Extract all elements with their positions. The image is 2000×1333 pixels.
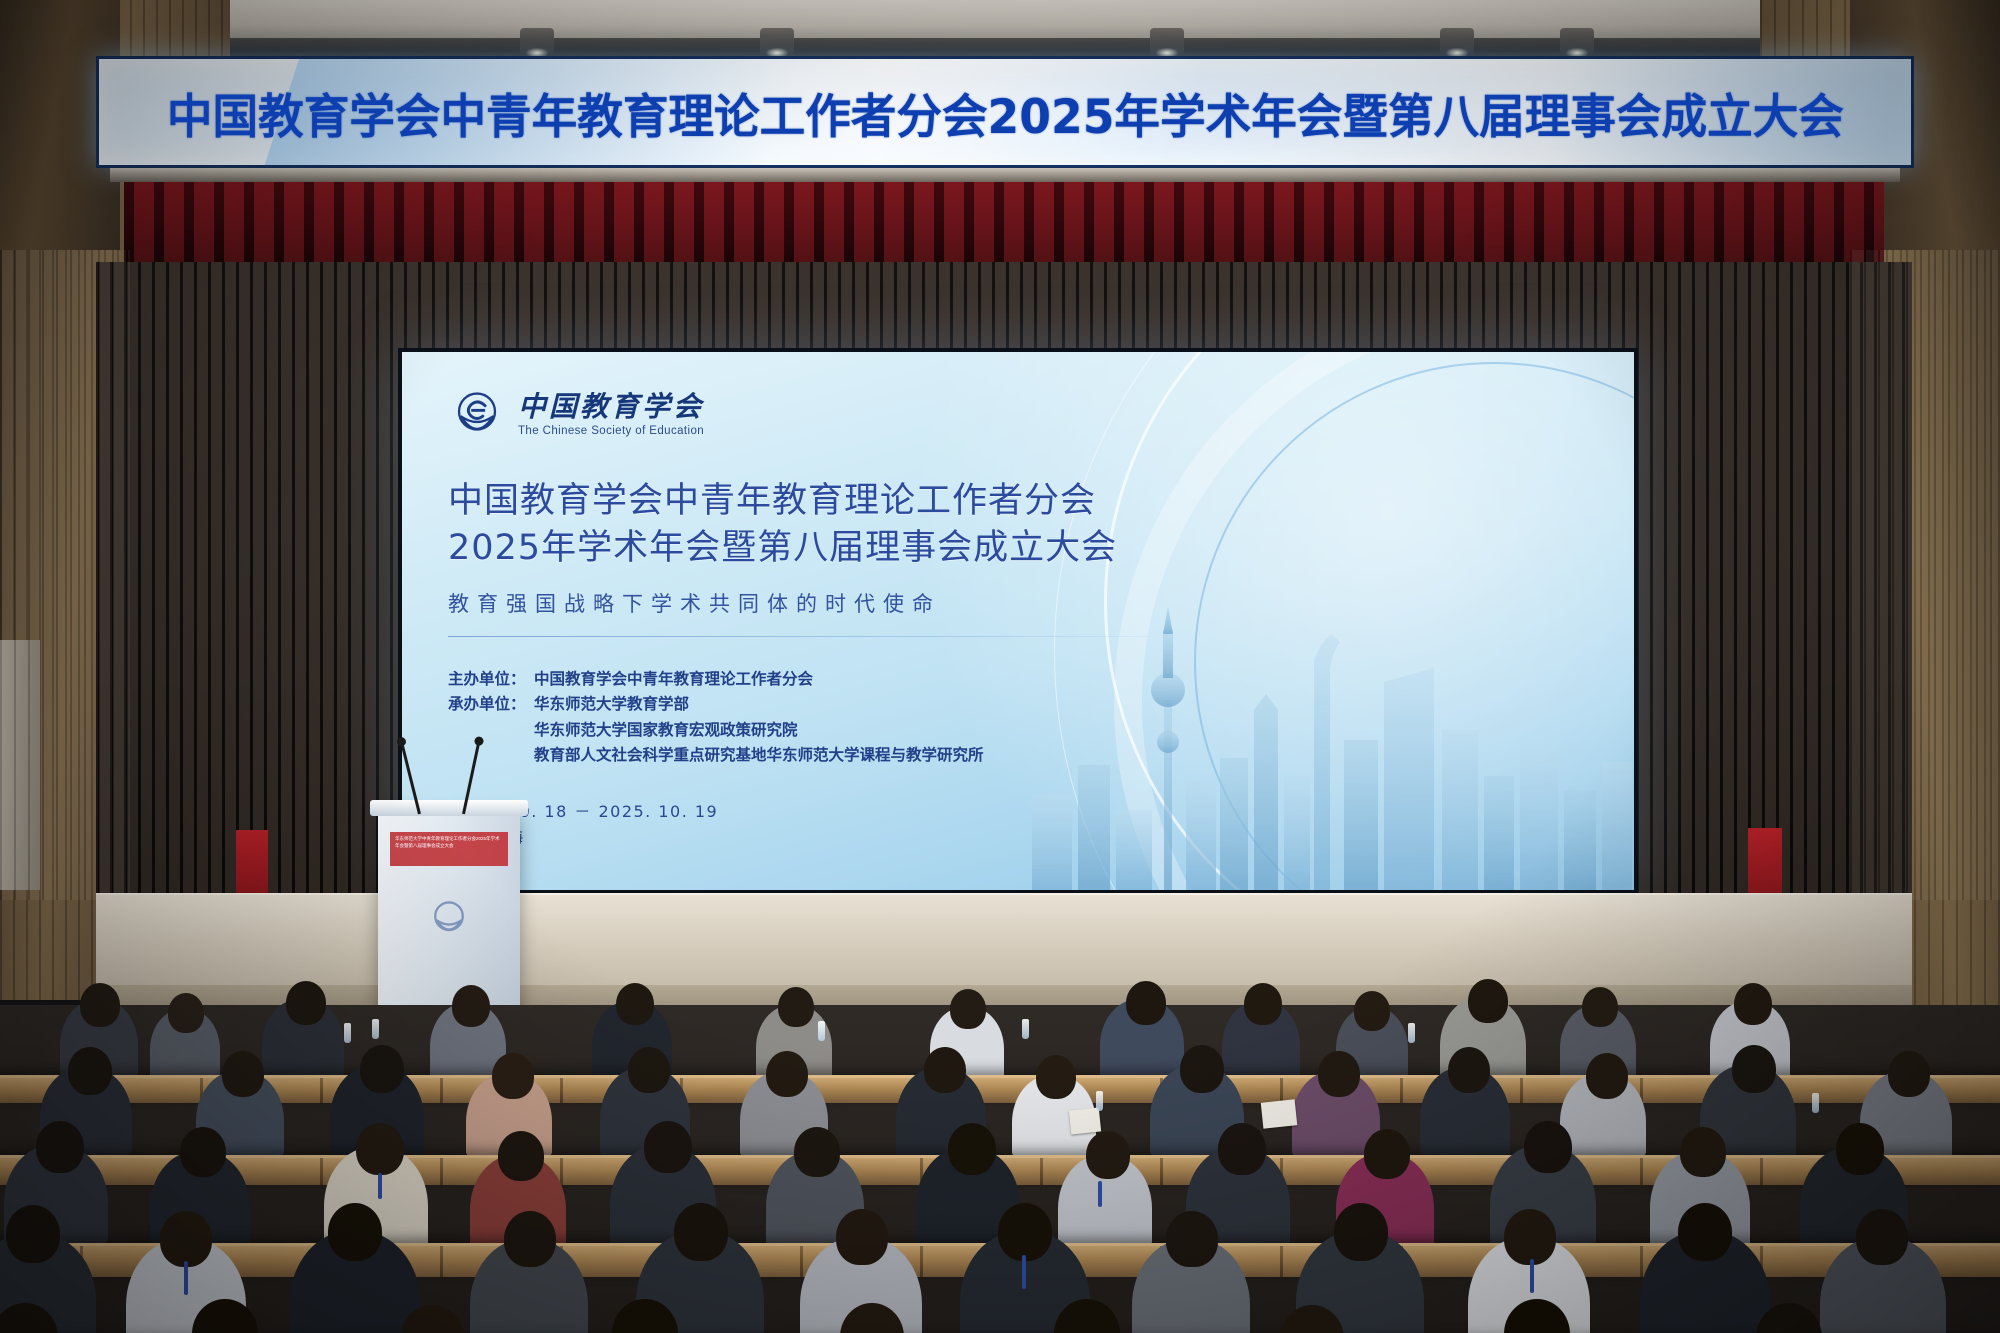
slide-location: 中国·上海 xyxy=(448,825,1248,851)
society-logo-chinese: 中国教育学会 xyxy=(518,393,704,421)
water-bottle xyxy=(818,1021,825,1041)
organizer-row: 主办单位： 中国教育学会中青年教育理论工作者分会 xyxy=(448,667,1248,693)
lighting-truss xyxy=(180,38,1800,52)
handout-paper xyxy=(1261,1099,1298,1128)
stage-light-fixture xyxy=(1440,28,1474,54)
society-logo: 中国教育学会 The Chinese Society of Education xyxy=(448,386,1248,444)
organizer-value: 华东师范大学国家教育宏观政策研究院 xyxy=(534,718,798,744)
organizer-row: 承办单位： 华东师范大学教育学部 xyxy=(448,692,1248,718)
led-banner: 中国教育学会中青年教育理论工作者分会2025年学术年会暨第八届理事会成立大会 xyxy=(96,56,1914,168)
slide-divider xyxy=(448,636,1148,637)
curtain-folds xyxy=(124,182,1884,264)
lanyard xyxy=(184,1261,188,1295)
handout-paper xyxy=(1069,1107,1101,1134)
conference-hall-photo: 中国教育学会中青年教育理论工作者分会2025年学术年会暨第八届理事会成立大会 xyxy=(0,0,2000,1333)
podium-nameplate: 华东师范大学中青年教育理论工作者分会2025年学术年会暨第八届理事会成立大会 xyxy=(390,832,508,866)
organizer-row: 教育部人文社会科学重点研究基地华东师范大学课程与教学研究所 xyxy=(448,743,1248,769)
water-bottle xyxy=(1812,1093,1819,1113)
speaker-podium: 华东师范大学中青年教育理论工作者分会2025年学术年会暨第八届理事会成立大会 xyxy=(378,810,520,1025)
stage-left-wood-panel xyxy=(0,250,130,900)
stage-curtain xyxy=(124,182,1884,264)
society-emblem-icon xyxy=(448,386,506,444)
stage-light-fixture xyxy=(520,28,554,54)
stage-right-wood-panel xyxy=(1850,250,2000,900)
audience-area xyxy=(0,1005,2000,1333)
slide-subtitle: 教育强国战略下学术共同体的时代使命 xyxy=(448,588,1248,618)
projection-screen: 中国教育学会 The Chinese Society of Education … xyxy=(402,352,1634,890)
podium-top-surface xyxy=(370,800,528,816)
lanyard xyxy=(378,1173,382,1199)
projection-screen-frame: 中国教育学会 The Chinese Society of Education … xyxy=(398,348,1638,894)
proscenium-valance xyxy=(110,168,1900,182)
organizer-row: 华东师范大学国家教育宏观政策研究院 xyxy=(448,718,1248,744)
slide-title: 中国教育学会中青年教育理论工作者分会 2025年学术年会暨第八届理事会成立大会 xyxy=(448,478,1248,572)
water-bottle xyxy=(372,1019,379,1039)
slide-organizers: 主办单位： 中国教育学会中青年教育理论工作者分会 承办单位： 华东师范大学教育学… xyxy=(448,667,1248,769)
organizer-value: 中国教育学会中青年教育理论工作者分会 xyxy=(534,667,813,693)
lanyard xyxy=(1022,1255,1026,1289)
water-bottle xyxy=(1408,1023,1415,1043)
organizer-key: 承办单位： xyxy=(448,692,534,718)
slide-title-line-2: 2025年学术年会暨第八届理事会成立大会 xyxy=(448,525,1248,572)
slide-title-line-1: 中国教育学会中青年教育理论工作者分会 xyxy=(448,478,1248,525)
slide-date-location: 2025. 10. 18 － 2025. 10. 19 中国·上海 xyxy=(448,799,1248,850)
lanyard xyxy=(1530,1259,1534,1293)
stage-light-fixture xyxy=(1150,28,1184,54)
organizer-value: 华东师范大学教育学部 xyxy=(534,692,689,718)
organizer-value: 教育部人文社会科学重点研究基地华东师范大学课程与教学研究所 xyxy=(534,743,984,769)
society-logo-english: The Chinese Society of Education xyxy=(518,425,704,437)
water-bottle xyxy=(344,1023,351,1043)
seat-row-1 xyxy=(0,1075,2000,1103)
podium-emblem-icon xyxy=(426,896,472,942)
organizer-key: 主办单位： xyxy=(448,667,534,693)
water-bottle xyxy=(1096,1091,1103,1111)
water-bottle xyxy=(1022,1019,1029,1039)
led-banner-text: 中国教育学会中青年教育理论工作者分会2025年学术年会暨第八届理事会成立大会 xyxy=(167,78,1844,147)
slide-content: 中国教育学会 The Chinese Society of Education … xyxy=(448,386,1248,850)
slide-date-range: 2025. 10. 18 － 2025. 10. 19 xyxy=(448,799,1248,825)
stage-light-fixture xyxy=(1560,28,1594,54)
lanyard xyxy=(1098,1181,1102,1207)
stage-light-fixture xyxy=(760,28,794,54)
